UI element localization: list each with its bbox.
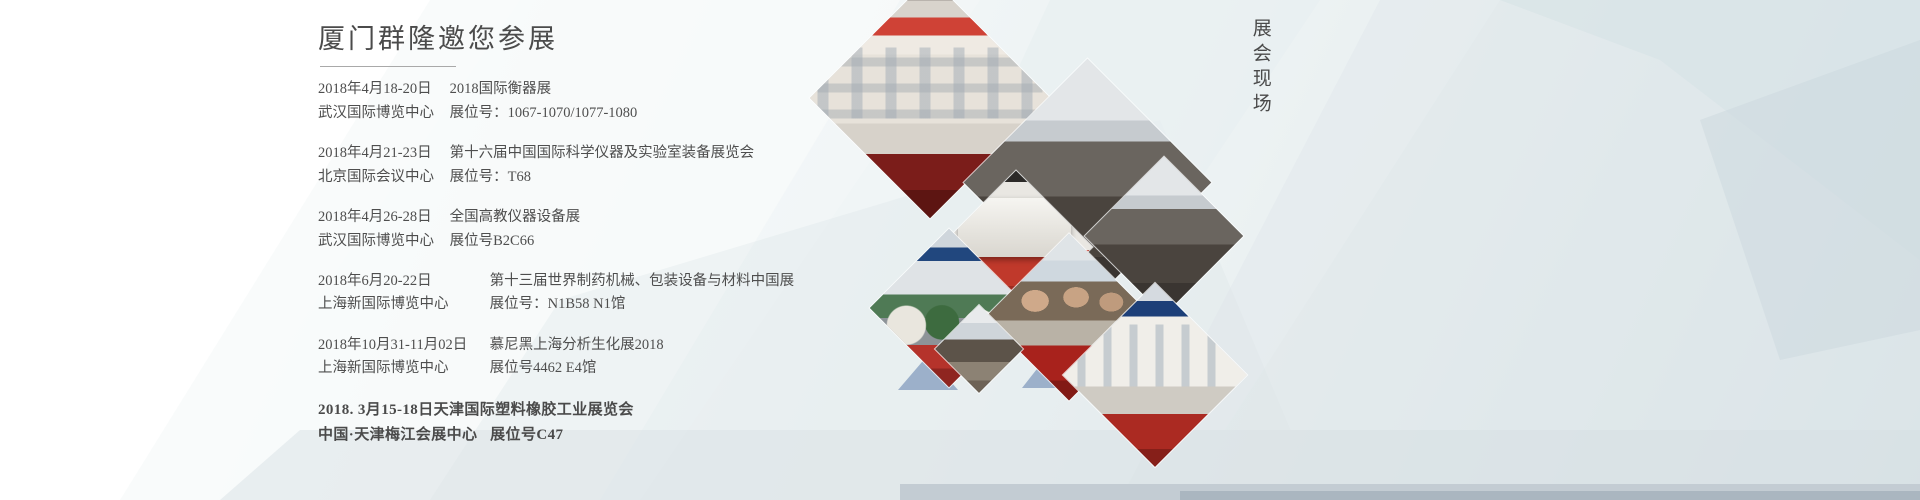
vertical-label-exhibition-site: 展会现场 [1248, 18, 1272, 118]
event-date: 2018年6月20-22日 [318, 270, 486, 293]
event-date: 2018年4月18-20日 [318, 78, 446, 101]
event-item: 2018年10月31-11月02日 慕尼黑上海分析生化展2018 上海新国际博览… [318, 334, 1058, 381]
event-booth: 展位号：T68 [450, 166, 531, 189]
event-name: 2018国际衡器展 [450, 78, 552, 101]
event-date: 2018年4月21-23日 [318, 142, 446, 165]
event-item: 2018. 3月15-18日天津国际塑料橡胶工业展览会 中国·天津梅江会展中心 … [318, 398, 1058, 449]
event-venue: 武汉国际博览中心 [318, 230, 446, 253]
event-booth: 展位号B2C66 [450, 230, 535, 253]
event-item: 2018年6月20-22日 第十三届世界制药机械、包装设备与材料中国展 上海新国… [318, 270, 1058, 317]
event-name: 第十六届中国国际科学仪器及实验室装备展览会 [450, 142, 755, 165]
event-item: 2018年4月26-28日 全国高教仪器设备展 武汉国际博览中心 展位号B2C6… [318, 206, 1058, 253]
event-venue: 武汉国际博览中心 [318, 102, 446, 125]
event-date: 2018. 3月15-18日天津国际塑料橡胶工业展览会 [318, 398, 634, 424]
event-booth: 展位号：1067-1070/1077-1080 [450, 102, 638, 125]
event-name: 第十三届世界制药机械、包装设备与材料中国展 [490, 270, 795, 293]
event-booth: 展位号C47 [490, 423, 563, 449]
event-venue: 北京国际会议中心 [318, 166, 446, 189]
event-booth: 展位号4462 E4馆 [490, 357, 597, 380]
event-venue: 上海新国际博览中心 [318, 293, 486, 316]
event-venue: 上海新国际博览中心 [318, 357, 486, 380]
event-name: 慕尼黑上海分析生化展2018 [490, 334, 664, 357]
event-name: 全国高教仪器设备展 [450, 206, 581, 229]
event-list-panel: 厦门群隆邀您参展 2018年4月18-20日 2018国际衡器展 武汉国际博览中… [318, 22, 1058, 466]
event-booth: 展位号：N1B58 N1馆 [490, 293, 626, 316]
event-venue: 中国·天津梅江会展中心 [318, 423, 486, 449]
event-date: 2018年10月31-11月02日 [318, 334, 486, 357]
title-underline [320, 66, 456, 67]
exhibition-banner: 厦门群隆邀您参展 2018年4月18-20日 2018国际衡器展 武汉国际博览中… [0, 0, 1920, 500]
event-item: 2018年4月18-20日 2018国际衡器展 武汉国际博览中心 展位号：106… [318, 78, 1058, 125]
event-item: 2018年4月21-23日 第十六届中国国际科学仪器及实验室装备展览会 北京国际… [318, 142, 1058, 189]
page-title: 厦门群隆邀您参展 [318, 22, 1058, 57]
event-date: 2018年4月26-28日 [318, 206, 446, 229]
